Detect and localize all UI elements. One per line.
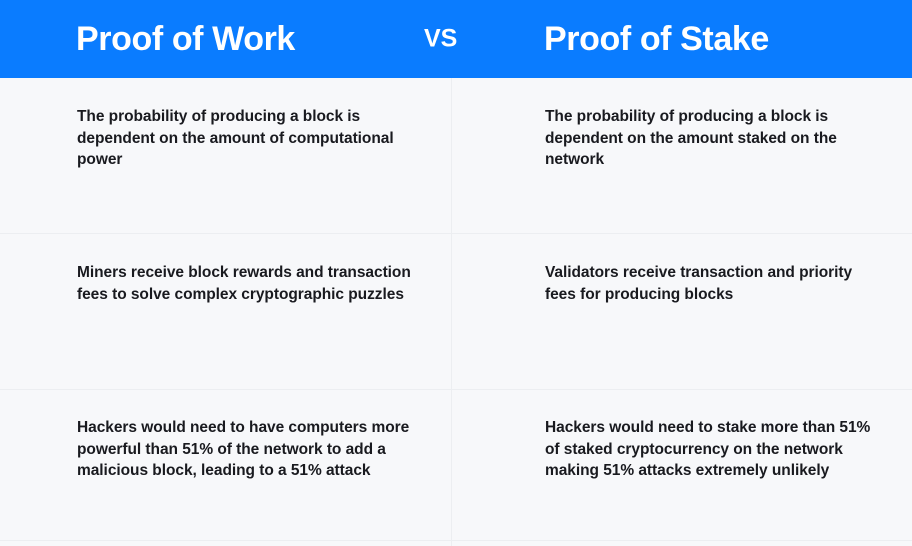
header-title-left: Proof of Work xyxy=(76,22,295,56)
table-body: The probability of producing a block is … xyxy=(0,78,912,546)
table-cell-pow: Hackers would need to have computers mor… xyxy=(0,390,452,540)
header-vs-label: VS xyxy=(424,27,457,52)
table-row-partial xyxy=(0,541,912,546)
table-cell-pos: Hackers would need to stake more than 51… xyxy=(453,390,912,540)
cell-text: Hackers would need to stake more than 51… xyxy=(545,417,872,482)
table-cell-pow: Miners receive block rewards and transac… xyxy=(0,234,452,389)
cell-text: Hackers would need to have computers mor… xyxy=(77,417,427,482)
table-header: Proof of Work VS Proof of Stake xyxy=(0,0,912,78)
header-cell-proof-of-work: Proof of Work xyxy=(0,0,452,78)
comparison-table: Proof of Work VS Proof of Stake The prob… xyxy=(0,0,912,546)
cell-text: Miners receive block rewards and transac… xyxy=(77,262,427,305)
table-row: Hackers would need to have computers mor… xyxy=(0,390,912,541)
table-row: The probability of producing a block is … xyxy=(0,78,912,234)
header-title-right: Proof of Stake xyxy=(544,22,769,56)
table-cell-pow xyxy=(0,541,452,546)
cell-text: Validators receive transaction and prior… xyxy=(545,262,872,305)
table-cell-pos: The probability of producing a block is … xyxy=(453,78,912,233)
table-cell-pos xyxy=(453,541,912,546)
header-cell-proof-of-stake: Proof of Stake xyxy=(452,0,912,78)
table-row: Miners receive block rewards and transac… xyxy=(0,234,912,390)
cell-text: The probability of producing a block is … xyxy=(77,106,427,171)
cell-text: The probability of producing a block is … xyxy=(545,106,872,171)
table-cell-pos: Validators receive transaction and prior… xyxy=(453,234,912,389)
table-cell-pow: The probability of producing a block is … xyxy=(0,78,452,233)
